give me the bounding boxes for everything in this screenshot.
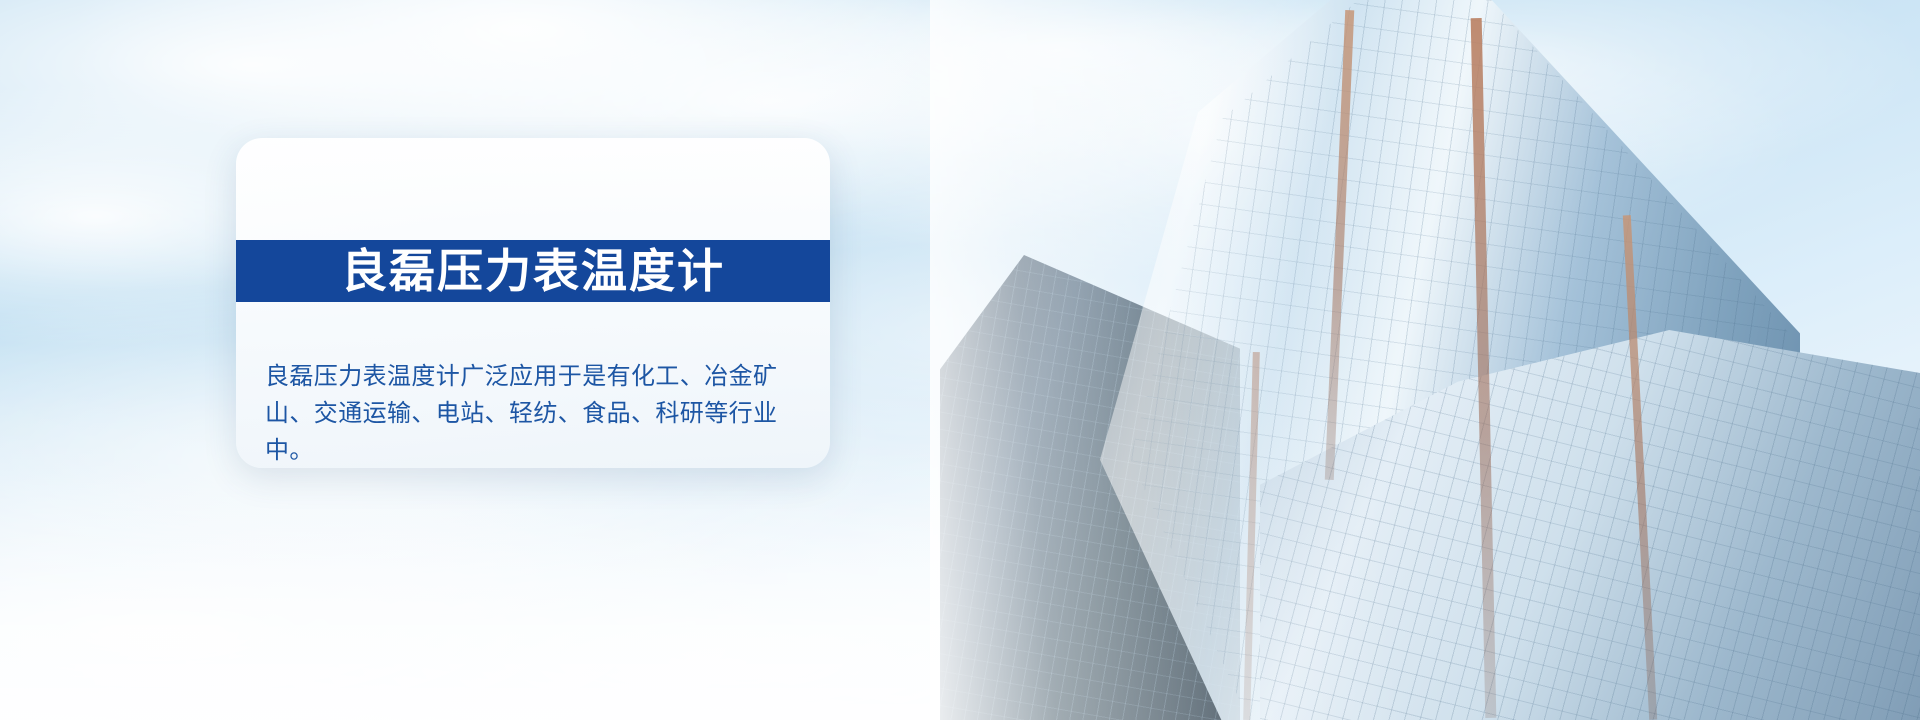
promo-card: 良磊压力表温度计 良磊压力表温度计广泛应用于是有化工、冶金矿山、交通运输、电站、… <box>236 138 830 468</box>
title-banner-bar: 良磊压力表温度计 <box>236 240 830 302</box>
page-title: 良磊压力表温度计 <box>341 248 725 294</box>
banner-stage: 良磊压力表温度计 良磊压力表温度计广泛应用于是有化工、冶金矿山、交通运输、电站、… <box>0 0 1920 720</box>
product-description: 良磊压力表温度计广泛应用于是有化工、冶金矿山、交通运输、电站、轻纺、食品、科研等… <box>265 358 808 468</box>
skyscraper-photo <box>930 0 1920 720</box>
